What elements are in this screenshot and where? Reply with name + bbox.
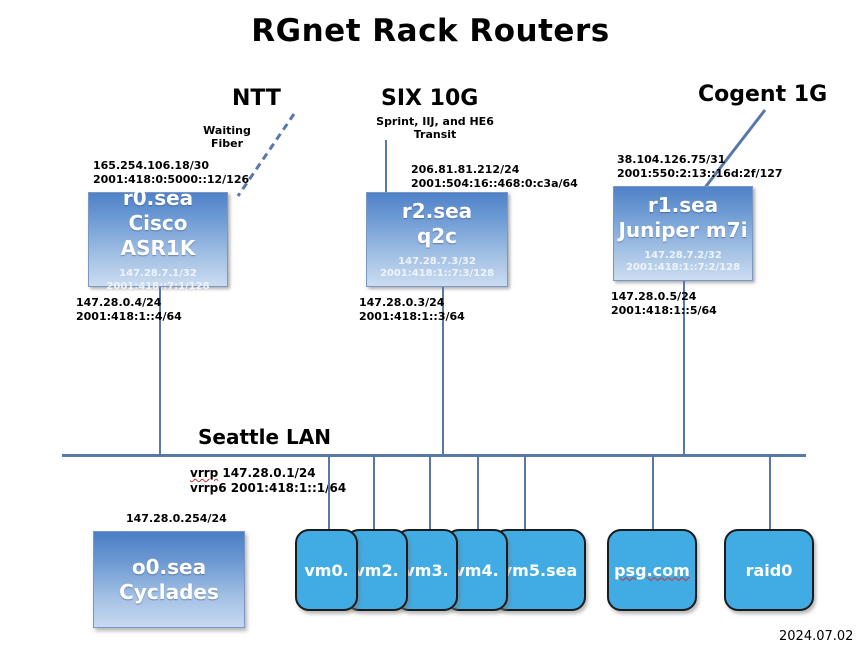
console-name: o0.sea	[132, 555, 206, 580]
lan-title: Seattle LAN	[198, 425, 331, 449]
router-loopback-v4-r2: 147.28.7.3/32	[398, 256, 476, 267]
router-model-r0: Cisco ASR1K	[89, 211, 227, 261]
router-model-r2: q2c	[417, 224, 457, 249]
uplink-label-cogent: Cogent 1G	[698, 82, 827, 107]
vm-label-vm2: vm2.	[354, 561, 398, 580]
r2-lan-v4: 147.28.0.3/24	[359, 296, 444, 309]
vm-drop-line-0	[328, 456, 330, 530]
six-note-line2: Transit	[414, 128, 457, 141]
diagram-canvas: RGnet Rack Routers NTT SIX 10G Cogent 1G…	[0, 0, 861, 653]
r0-uplink-v4: 165.254.106.18/30	[93, 159, 209, 172]
service-box-psg[interactable]: psg.com	[607, 529, 697, 611]
router-loopback-v6-r2: 2001:418:1::7:3/128	[380, 268, 494, 279]
r2-uplink-v6: 2001:504:16::468:0:c3a/64	[411, 177, 578, 190]
ntt-note-line1: Waiting	[203, 124, 251, 137]
cogent-uplink-line	[690, 106, 770, 196]
router-loopback-v4-r0: 147.28.7.1/32	[119, 268, 197, 279]
r2-uplink-v4: 206.81.81.212/24	[411, 163, 519, 176]
router-name-r1: r1.sea	[648, 193, 718, 218]
vm-drop-line-2	[429, 456, 431, 530]
r1-uplink-v6: 2001:550:2:13::16d:2f/127	[617, 167, 783, 180]
router-loopback-v6-r1: 2001:418:1::7:2/128	[626, 262, 740, 273]
page-title: RGnet Rack Routers	[0, 13, 861, 49]
ntt-note-line2: Fiber	[211, 137, 243, 150]
r1-lan-v4: 147.28.0.5/24	[611, 290, 696, 303]
router-model-r1: Juniper m7i	[618, 218, 747, 243]
six-note-line1: Sprint, IIJ, and HE6	[376, 115, 494, 128]
date-stamp: 2024.07.02	[779, 629, 853, 644]
console-address-label: 147.28.0.254/24	[126, 512, 227, 526]
vm-label-vm0: vm0.	[304, 561, 348, 580]
router-loopback-v4-r1: 147.28.7.2/32	[644, 250, 722, 261]
r1-uplink-v4: 38.104.126.75/31	[617, 153, 725, 166]
service-drop-line-0	[652, 456, 654, 530]
service-label-psg: psg.com	[614, 561, 690, 580]
router-box-r1[interactable]: r1.sea Juniper m7i 147.28.7.2/32 2001:41…	[613, 186, 753, 281]
vm-label-vm3: vm3.	[404, 561, 448, 580]
service-label-raid0: raid0	[746, 561, 793, 580]
vm-drop-line-1	[373, 456, 375, 530]
six-uplink-line	[385, 140, 387, 195]
vrrp6-keyword: vrrp6	[190, 481, 227, 495]
vm-drop-line-3	[477, 456, 479, 530]
vm-box-vm0[interactable]: vm0.	[295, 529, 358, 611]
vm-label-vm5: vm5.sea	[502, 561, 577, 580]
console-box-o0[interactable]: o0.sea Cyclades	[93, 531, 245, 628]
console-model: Cyclades	[119, 580, 219, 605]
r0-uplink-v6: 2001:418:0:5000::12/126	[93, 173, 249, 186]
r2-lan-v6: 2001:418:1::3/64	[359, 310, 465, 323]
seattle-lan-bus[interactable]	[62, 454, 806, 457]
r0-lan-v6: 2001:418:1::4/64	[76, 310, 182, 323]
r0-lan-v4: 147.28.0.4/24	[76, 296, 161, 309]
vm-label-vm4: vm4.	[454, 561, 498, 580]
router-name-r0: r0.sea	[123, 186, 193, 211]
router-box-r2[interactable]: r2.sea q2c 147.28.7.3/32 2001:418:1::7:3…	[366, 192, 508, 287]
router-box-r0[interactable]: r0.sea Cisco ASR1K 147.28.7.1/32 2001:41…	[88, 192, 228, 287]
router-loopback-v6-r0: 2001:418::7:1/128	[106, 281, 209, 292]
service-drop-line-1	[769, 456, 771, 530]
vrrp-v4-address: 147.28.0.1/24	[218, 466, 315, 480]
service-box-raid0[interactable]: raid0	[724, 529, 814, 611]
router-name-r2: r2.sea	[402, 199, 472, 224]
vrrp-keyword: vrrp	[190, 466, 218, 480]
uplink-label-six: SIX 10G	[381, 86, 478, 111]
r1-lan-v6: 2001:418:1::5/64	[611, 304, 717, 317]
uplink-label-ntt: NTT	[232, 86, 281, 111]
vm-drop-line-4	[524, 456, 526, 530]
